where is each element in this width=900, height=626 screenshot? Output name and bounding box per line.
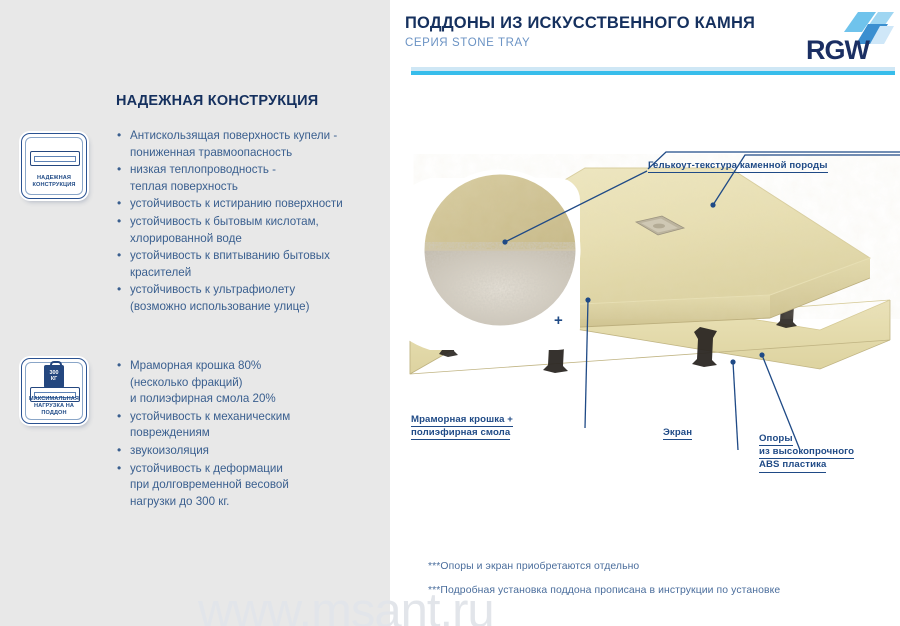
- shower-tray-icon: [30, 151, 80, 166]
- bullet-line-2: (возможно использование улице): [130, 299, 386, 316]
- list-item: устойчивость к деформации при долговреме…: [116, 461, 381, 511]
- bullet-line-2: (несколько фракций): [130, 375, 381, 392]
- bullet-line-2: красителей: [130, 265, 386, 282]
- badge-caption: НАДЕЖНАЯ КОНСТРУКЦИЯ: [22, 175, 86, 189]
- rgw-logo: RGW: [806, 10, 894, 62]
- weight-unit: КГ: [44, 376, 64, 382]
- bullet-line-2: повреждениям: [130, 425, 381, 442]
- construction-feature-list: Антискользящая поверхность купели - пони…: [116, 128, 386, 317]
- bullet-line-1: устойчивость к бытовым кислотам,: [130, 215, 319, 228]
- list-item: низкая теплопроводность - теплая поверхн…: [116, 162, 386, 195]
- footnote-separate-purchase: ***Опоры и экран приобретаются отдельно: [428, 561, 639, 572]
- rgw-logo-text: RGW: [806, 37, 869, 64]
- bullet-line-1: звукоизоляция: [130, 444, 209, 457]
- badge-caption-line2: НАГРУЗКА НА ПОДДОН: [22, 403, 86, 417]
- product-illustration: +: [400, 150, 900, 450]
- callout-gelcoat: Гелькоут-текстура каменной породы: [648, 160, 828, 173]
- badge-caption-line1: МАКСИМАЛЬНАЯ: [22, 396, 86, 403]
- callout-abs-legs: Опоры из высокопрочного ABS пластика: [759, 433, 854, 473]
- bullet-line-2: теплая поверхность: [130, 179, 386, 196]
- plus-symbol: +: [554, 312, 563, 329]
- badge-reliable-construction: НАДЕЖНАЯ КОНСТРУКЦИЯ: [21, 133, 87, 199]
- list-item: устойчивость к механическим повреждениям: [116, 409, 381, 442]
- list-item: устойчивость к впитыванию бытовых красит…: [116, 248, 386, 281]
- bullet-line-1: устойчивость к впитыванию бытовых: [130, 249, 330, 262]
- bullet-line-1: устойчивость к деформации: [130, 462, 283, 475]
- callout-line-1: Опоры: [759, 433, 793, 446]
- callout-screen: Экран: [663, 427, 692, 440]
- header-rule-accent: [411, 71, 895, 75]
- shower-tray-render: +: [400, 150, 900, 450]
- material-feature-list: Мраморная крошка 80% (несколько фракций)…: [116, 358, 381, 511]
- list-item: Антискользящая поверхность купели - пони…: [116, 128, 386, 161]
- bullet-line-2: пониженная травмоопасность: [130, 145, 386, 162]
- bullet-line-2: при долговременной весовой: [130, 477, 381, 494]
- bullet-line-3: и полиэфирная смола 20%: [130, 391, 381, 408]
- bullet-line-1: Антискользящая поверхность купели -: [130, 129, 337, 142]
- bullet-line-1: устойчивость к механическим: [130, 410, 290, 423]
- list-item: устойчивость к истиранию поверхности: [116, 196, 386, 213]
- weight-value-label: 300 КГ: [44, 370, 64, 382]
- list-item: устойчивость к бытовым кислотам, хлориро…: [116, 214, 386, 247]
- badge-caption-line2: КОНСТРУКЦИЯ: [22, 182, 86, 189]
- callout-line-1: Мраморная крошка +: [411, 414, 513, 427]
- material-magnifier: +: [400, 172, 580, 350]
- callout-line-1: Гелькоут-текстура каменной породы: [648, 160, 828, 173]
- bullet-line-1: Мраморная крошка 80%: [130, 359, 261, 372]
- infographic-page: ПОДДОНЫ ИЗ ИСКУССТВЕННОГО КАМНЯ СЕРИЯ ST…: [0, 0, 900, 626]
- bullet-line-1: устойчивость к ультрафиолету: [130, 283, 295, 296]
- bullet-line-1: устойчивость к истиранию поверхности: [130, 197, 343, 210]
- bullet-line-1: низкая теплопроводность -: [130, 163, 276, 176]
- list-item: Мраморная крошка 80% (несколько фракций)…: [116, 358, 381, 408]
- callout-line-3: ABS пластика: [759, 459, 826, 472]
- badge-caption-line1: НАДЕЖНАЯ: [22, 175, 86, 182]
- badge-max-load: 300 КГ МАКСИМАЛЬНАЯ НАГРУЗКА НА ПОДДОН: [21, 358, 87, 424]
- callout-line-2: полиэфирная смола: [411, 427, 510, 440]
- callout-line-1: Экран: [663, 427, 692, 440]
- badge-caption: МАКСИМАЛЬНАЯ НАГРУЗКА НА ПОДДОН: [22, 396, 86, 417]
- callout-line-2: из высокопрочного: [759, 446, 854, 459]
- section-title: НАДЕЖНАЯ КОНСТРУКЦИЯ: [116, 93, 318, 109]
- list-item: звукоизоляция: [116, 443, 381, 460]
- callout-marble-chip: Мраморная крошка + полиэфирная смола: [411, 414, 513, 440]
- bullet-line-2: хлорированной воде: [130, 231, 386, 248]
- weight-icon: 300 КГ: [44, 365, 64, 388]
- list-item: устойчивость к ультрафиолету (возможно и…: [116, 282, 386, 315]
- site-watermark: www.msant.ru: [198, 583, 494, 626]
- bullet-line-3: нагрузки до 300 кг.: [130, 494, 381, 511]
